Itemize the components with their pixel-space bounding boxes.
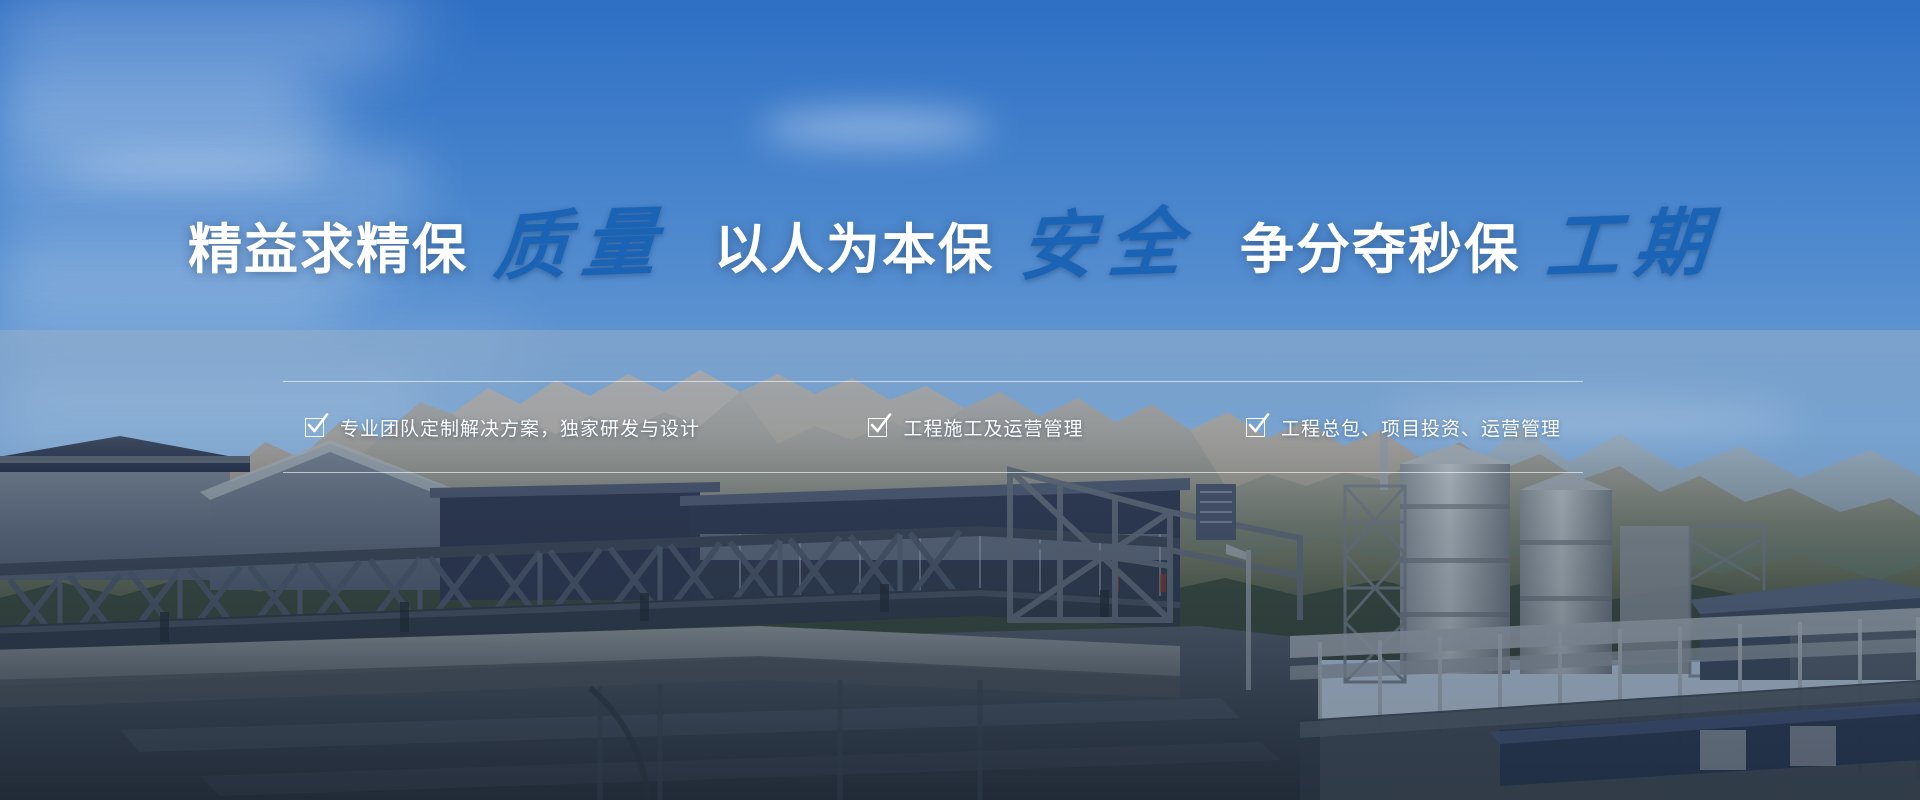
headline: 精益求精保质量以人为本保安全争分夺秒保工期 — [0, 213, 1920, 287]
headline-segment-5: 争分夺秒保 — [1240, 223, 1520, 277]
banner-hero: 精益求精保质量以人为本保安全争分夺秒保工期 专业团队定制解决方案，独家研发与设计… — [0, 0, 1920, 800]
checkbox-checked-icon — [1246, 418, 1265, 437]
headline-segment-1: 精益求精保 — [188, 223, 468, 277]
headline-segment-6-brush: 工期 — [1533, 205, 1734, 286]
feature-label-1: 专业团队定制解决方案，独家研发与设计 — [340, 414, 700, 441]
feature-label-2: 工程施工及运营管理 — [903, 414, 1083, 441]
feature-list: 专业团队定制解决方案，独家研发与设计 工程施工及运营管理 工程总包、项目投资、运… — [283, 381, 1583, 473]
feature-item-3: 工程总包、项目投资、运营管理 — [1246, 414, 1561, 441]
headline-segment-4-brush: 安全 — [1007, 205, 1208, 286]
feature-item-1: 专业团队定制解决方案，独家研发与设计 — [305, 414, 700, 441]
headline-segment-3: 以人为本保 — [714, 223, 994, 277]
feature-item-2: 工程施工及运营管理 — [868, 414, 1083, 441]
feature-label-3: 工程总包、项目投资、运营管理 — [1281, 414, 1561, 441]
hero-content: 精益求精保质量以人为本保安全争分夺秒保工期 专业团队定制解决方案，独家研发与设计… — [0, 0, 1920, 800]
checkbox-checked-icon — [868, 418, 887, 437]
headline-segment-2-brush: 质量 — [481, 205, 682, 286]
checkbox-checked-icon — [305, 418, 324, 437]
